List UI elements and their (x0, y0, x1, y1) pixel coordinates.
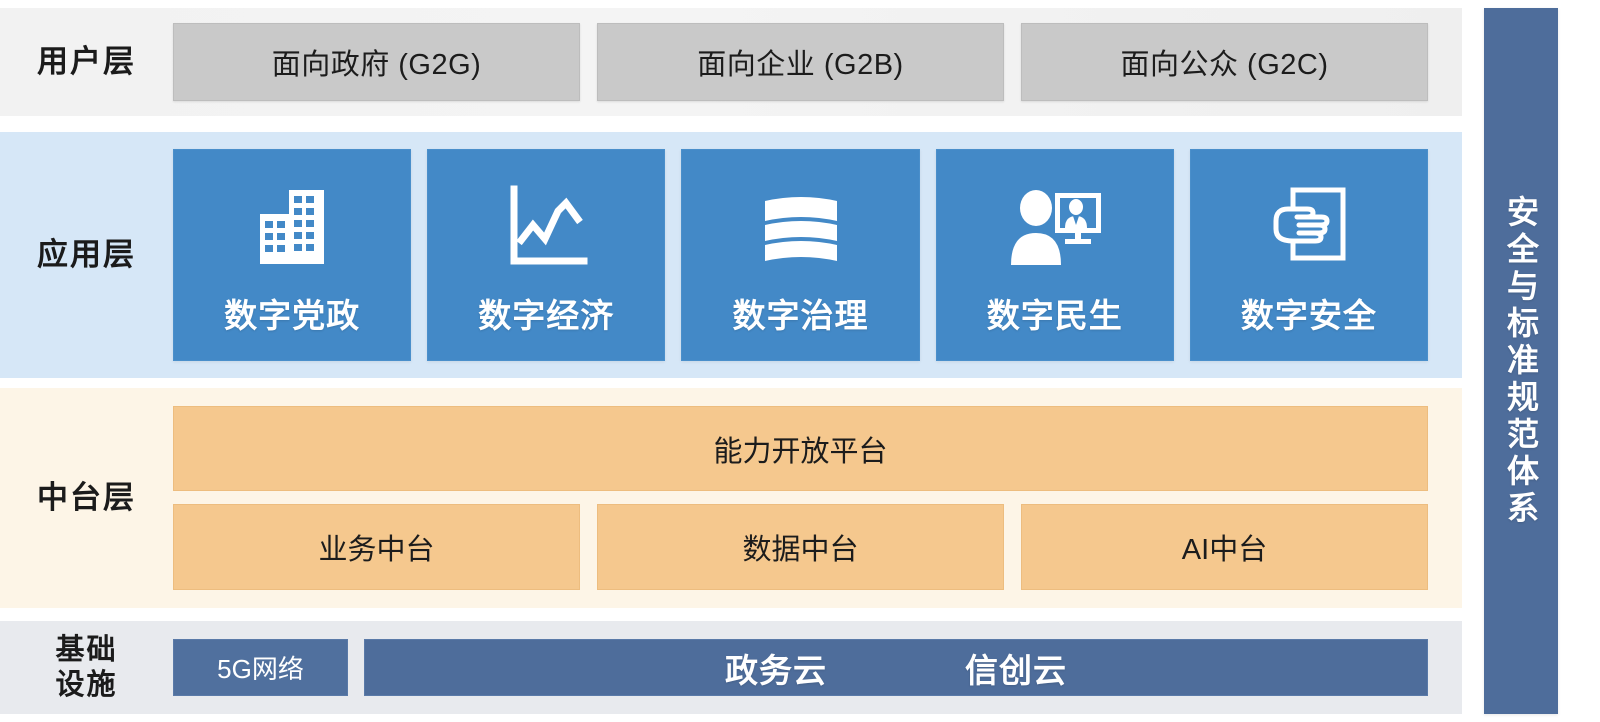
hand-document-icon (1263, 179, 1355, 275)
infrastructure-label-line2: 设施 (0, 668, 173, 702)
person-screen-icon (1003, 179, 1107, 275)
line-chart-icon (500, 179, 592, 275)
middle-platform-layer-body: 能力开放平台 业务中台 数据中台 AI中台 (173, 406, 1462, 590)
app-card-digital-security[interactable]: 数字安全 (1190, 149, 1428, 361)
app-card-digital-government[interactable]: 数字党政 (173, 149, 411, 361)
user-box-g2b[interactable]: 面向企业 (G2B) (597, 23, 1004, 101)
architecture-diagram: 用户层 面向政府 (G2G) 面向企业 (G2B) 面向公众 (G2C) 应用层 (0, 0, 1600, 722)
infra-cloud-government: 政务云 (725, 644, 827, 692)
infrastructure-layer-label: 基础 设施 (0, 633, 173, 701)
infrastructure-label-line1: 基础 (0, 633, 173, 667)
app-card-title: 数字治理 (733, 289, 869, 337)
user-layer-body: 面向政府 (G2G) 面向企业 (G2B) 面向公众 (G2C) (173, 23, 1462, 101)
app-card-title: 数字党政 (224, 289, 360, 337)
app-card-title: 数字经济 (478, 289, 614, 337)
infrastructure-layer-body: 5G网络 政务云 信创云 (173, 639, 1462, 696)
user-layer-label: 用户层 (0, 44, 173, 81)
infrastructure-layer-band: 基础 设施 5G网络 政务云 信创云 (0, 621, 1462, 714)
user-layer-band: 用户层 面向政府 (G2G) 面向企业 (G2B) 面向公众 (G2C) (0, 8, 1462, 116)
middle-platform-layer-band: 中台层 能力开放平台 业务中台 数据中台 AI中台 (0, 388, 1462, 608)
middle-platform-layer-label: 中台层 (0, 480, 173, 517)
app-card-title: 数字民生 (987, 289, 1123, 337)
infra-box-5g-network[interactable]: 5G网络 (173, 639, 348, 696)
application-layer-label: 应用层 (0, 237, 173, 274)
security-standards-pillar-label: 安全与标准规范体系 (1498, 195, 1544, 528)
database-icon (755, 179, 847, 275)
mid-box-data[interactable]: 数据中台 (597, 504, 1004, 590)
app-card-digital-economy[interactable]: 数字经济 (427, 149, 665, 361)
mid-box-ai[interactable]: AI中台 (1021, 504, 1428, 590)
middle-platform-row: 业务中台 数据中台 AI中台 (173, 504, 1428, 590)
application-layer-band: 应用层 (0, 132, 1462, 378)
mid-box-business[interactable]: 业务中台 (173, 504, 580, 590)
app-card-digital-governance[interactable]: 数字治理 (681, 149, 919, 361)
building-icon (246, 179, 338, 275)
infra-cloud-xinchuang: 信创云 (965, 644, 1067, 692)
infra-cloud-bar[interactable]: 政务云 信创云 (364, 639, 1428, 696)
user-box-g2g[interactable]: 面向政府 (G2G) (173, 23, 580, 101)
app-card-title: 数字安全 (1241, 289, 1377, 337)
capability-open-platform-bar[interactable]: 能力开放平台 (173, 406, 1428, 491)
user-box-g2c[interactable]: 面向公众 (G2C) (1021, 23, 1428, 101)
security-standards-pillar[interactable]: 安全与标准规范体系 (1484, 8, 1558, 714)
app-card-digital-livelihood[interactable]: 数字民生 (936, 149, 1174, 361)
application-layer-body: 数字党政 数字经济 (173, 149, 1462, 361)
